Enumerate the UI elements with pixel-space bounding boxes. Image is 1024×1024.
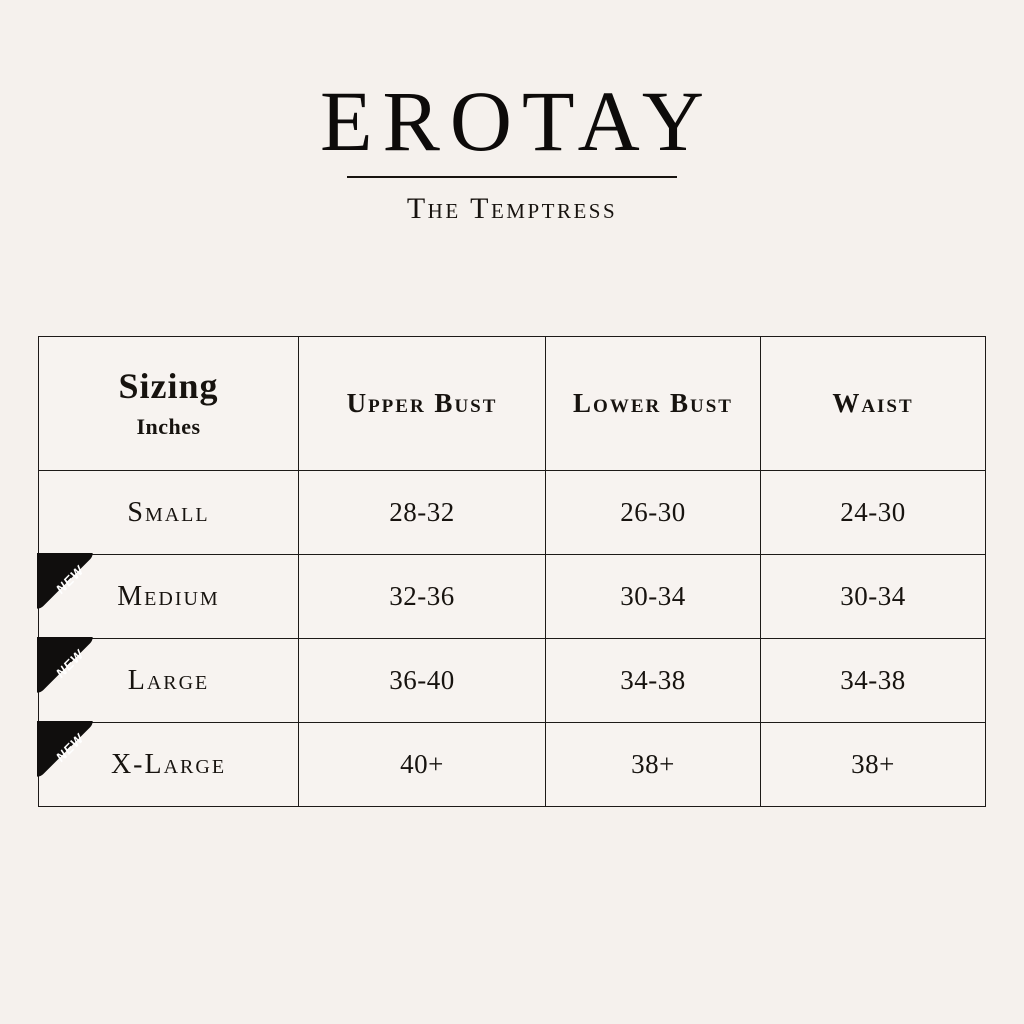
upper-bust-value: 28-32 [389,497,455,527]
new-badge-ribbon: NEW [37,721,121,805]
upper-bust-value: 40+ [400,749,444,779]
cell-size-name: NEW X-Large [39,723,299,807]
new-badge-ribbon: NEW [37,553,121,637]
ribbon-triangle-shape [37,553,96,612]
cell-size-name: Small [39,471,299,555]
brand-divider-rule [347,176,677,178]
cell-waist: 34-38 [761,639,986,723]
size-label: Small [127,497,209,528]
ribbon-triangle-shape [37,637,96,696]
size-label: Medium [117,581,219,612]
table-header-row: Sizing Inches Upper Bust Lower Bust Wais… [39,337,986,471]
table-header: Sizing Inches Upper Bust Lower Bust Wais… [39,337,986,471]
header-cell-sizing: Sizing Inches [39,337,299,471]
table-row: NEW Large 36-40 34-38 34-38 [39,639,986,723]
header-waist-label: Waist [761,388,985,419]
waist-value: 24-30 [840,497,906,527]
cell-upper-bust: 32-36 [299,555,546,639]
size-label: X-Large [111,749,226,780]
table-row: Small 28-32 26-30 24-30 [39,471,986,555]
brand-name: EROTAY [0,78,1024,164]
new-badge-label: NEW [45,722,95,772]
cell-upper-bust: 28-32 [299,471,546,555]
size-chart-table: Sizing Inches Upper Bust Lower Bust Wais… [38,336,986,807]
cell-waist: 30-34 [761,555,986,639]
waist-value: 34-38 [840,665,906,695]
upper-bust-value: 32-36 [389,581,455,611]
cell-upper-bust: 36-40 [299,639,546,723]
cell-lower-bust: 34-38 [546,639,761,723]
brand-header: EROTAY The Temptress [0,78,1024,226]
cell-lower-bust: 30-34 [546,555,761,639]
cell-lower-bust: 38+ [546,723,761,807]
table-row: NEW Medium 32-36 30-34 30-34 [39,555,986,639]
upper-bust-value: 36-40 [389,665,455,695]
waist-value: 30-34 [840,581,906,611]
header-lower-bust-label: Lower Bust [546,388,760,419]
header-cell-lower-bust: Lower Bust [546,337,761,471]
cell-lower-bust: 26-30 [546,471,761,555]
lower-bust-value: 38+ [631,749,675,779]
lower-bust-value: 26-30 [620,497,686,527]
new-badge-ribbon: NEW [37,637,121,721]
waist-value: 38+ [851,749,895,779]
header-upper-bust-label: Upper Bust [299,388,545,419]
size-chart: Sizing Inches Upper Bust Lower Bust Wais… [38,336,985,806]
cell-size-name: NEW Large [39,639,299,723]
lower-bust-value: 34-38 [620,665,686,695]
cell-upper-bust: 40+ [299,723,546,807]
new-badge-label: NEW [45,554,95,604]
header-sizing-unit: Inches [39,414,298,440]
cell-waist: 38+ [761,723,986,807]
brand-tagline: The Temptress [0,192,1024,226]
cell-waist: 24-30 [761,471,986,555]
lower-bust-value: 30-34 [620,581,686,611]
header-sizing-title: Sizing [39,367,298,406]
header-cell-waist: Waist [761,337,986,471]
table-row: NEW X-Large 40+ 38+ 38+ [39,723,986,807]
cell-size-name: NEW Medium [39,555,299,639]
size-label: Large [128,665,210,696]
table-body: Small 28-32 26-30 24-30 NEW [39,471,986,807]
new-badge-label: NEW [45,638,95,688]
ribbon-triangle-shape [37,721,96,780]
header-cell-upper-bust: Upper Bust [299,337,546,471]
